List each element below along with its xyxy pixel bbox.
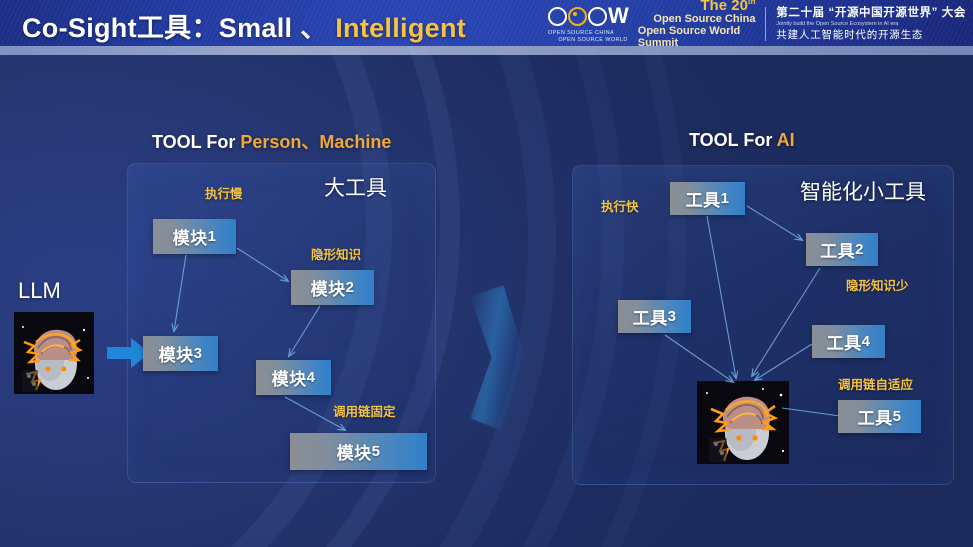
event-line-osws: Open Source World Summit bbox=[638, 26, 756, 50]
node-tool-4-num: 4 bbox=[862, 333, 871, 350]
node-tool-5[interactable]: 工具5 bbox=[838, 400, 921, 433]
slide-canvas: Co-Sight工具：Small 、 Intelligent W OPEN SO… bbox=[0, 0, 973, 547]
node-module-1-num: 1 bbox=[208, 228, 217, 245]
circle-o2-icon bbox=[588, 7, 607, 26]
node-module-3-num: 3 bbox=[194, 345, 203, 362]
circle-o-icon bbox=[548, 7, 567, 26]
letter-w-glyph: W bbox=[608, 5, 628, 27]
node-tool-3-label: 工具 bbox=[633, 304, 668, 329]
node-tool-5-num: 5 bbox=[893, 408, 902, 425]
left-annotation-chain: 调用链固定 bbox=[333, 401, 396, 420]
event-cn-subtitle: 共建人工智能时代的开源生态 bbox=[776, 29, 966, 41]
left-annotation-knowledge: 隐形知识 bbox=[311, 244, 361, 263]
node-module-2[interactable]: 模块2 bbox=[291, 270, 374, 305]
node-tool-2-label: 工具 bbox=[820, 237, 855, 262]
right-zone-label: 智能化小工具 bbox=[800, 176, 926, 206]
logo-divider bbox=[765, 7, 766, 41]
node-module-5-num: 5 bbox=[372, 443, 381, 460]
event-en-subtitle: Jointly build the Open Source Ecosystem … bbox=[776, 21, 966, 27]
node-module-2-num: 2 bbox=[346, 279, 355, 296]
node-tool-1-num: 1 bbox=[721, 190, 730, 207]
conference-logo-lockup: W OPEN SOURCE CHINA OPEN SOURCE WORLD Th… bbox=[548, 4, 966, 44]
right-title-highlight: AI bbox=[777, 130, 795, 150]
ocow-logo: W OPEN SOURCE CHINA OPEN SOURCE WORLD bbox=[548, 5, 628, 43]
node-tool-5-label: 工具 bbox=[858, 404, 893, 429]
event-edition-number: The 20th bbox=[700, 0, 755, 14]
node-module-1-label: 模块 bbox=[173, 224, 208, 249]
node-module-4[interactable]: 模块4 bbox=[256, 360, 331, 395]
llm-brain-image bbox=[14, 312, 94, 394]
node-module-1[interactable]: 模块1 bbox=[153, 219, 236, 254]
node-tool-1-label: 工具 bbox=[686, 186, 721, 211]
ocow-subtitle-world: OPEN SOURCE WORLD bbox=[558, 37, 627, 43]
right-panel-title: TOOL For AI bbox=[689, 130, 795, 151]
node-tool-3-num: 3 bbox=[668, 308, 677, 325]
left-panel-title: TOOL For Person、Machine bbox=[152, 128, 391, 154]
event-chinese-block: 第二十届 “开源中国开源世界” 大会 Jointly build the Ope… bbox=[776, 7, 966, 42]
title-segment-intelligent: Intelligent bbox=[335, 13, 466, 43]
llm-label: LLM bbox=[18, 278, 61, 304]
right-title-prefix: TOOL For bbox=[689, 130, 777, 150]
node-module-3-label: 模块 bbox=[159, 341, 194, 366]
ocow-subtitle-china: OPEN SOURCE CHINA bbox=[548, 30, 614, 36]
header-accent-strip bbox=[0, 46, 973, 55]
left-title-highlight: Person、Machine bbox=[240, 132, 391, 152]
title-segment-main: Co-Sight工具： bbox=[22, 13, 219, 43]
node-module-4-num: 4 bbox=[307, 369, 316, 386]
page-title: Co-Sight工具：Small 、 Intelligent bbox=[22, 6, 466, 45]
left-annotation-speed: 执行慢 bbox=[205, 183, 243, 202]
right-annotation-speed: 执行快 bbox=[601, 196, 639, 215]
node-module-4-label: 模块 bbox=[272, 365, 307, 390]
node-tool-4-label: 工具 bbox=[827, 329, 862, 354]
brain-illustration-right bbox=[697, 381, 789, 464]
node-tool-1[interactable]: 工具1 bbox=[670, 182, 745, 215]
node-module-5-label: 模块 bbox=[337, 439, 372, 464]
circle-c-icon bbox=[568, 7, 587, 26]
ai-brain-image bbox=[697, 381, 789, 464]
node-tool-2-num: 2 bbox=[855, 241, 864, 258]
node-tool-4[interactable]: 工具4 bbox=[812, 325, 885, 358]
brain-illustration-left bbox=[14, 312, 94, 394]
title-segment-small: Small 、 bbox=[219, 13, 335, 43]
left-zone-label: 大工具 bbox=[324, 172, 387, 202]
ocow-wordmark: W bbox=[548, 5, 628, 27]
node-tool-2[interactable]: 工具2 bbox=[806, 233, 878, 266]
right-annotation-knowledge: 隐形知识少 bbox=[846, 275, 909, 294]
node-tool-3[interactable]: 工具3 bbox=[618, 300, 691, 333]
node-module-3[interactable]: 模块3 bbox=[143, 336, 218, 371]
node-module-2-label: 模块 bbox=[311, 275, 346, 300]
node-module-5[interactable]: 模块5 bbox=[290, 433, 427, 470]
event-cn-title: 第二十届 “开源中国开源世界” 大会 bbox=[776, 7, 966, 20]
right-annotation-chain: 调用链自适应 bbox=[838, 374, 913, 393]
event-edition-block: The 20th Open Source China Open Source W… bbox=[638, 0, 756, 50]
left-title-prefix: TOOL For bbox=[152, 132, 240, 152]
